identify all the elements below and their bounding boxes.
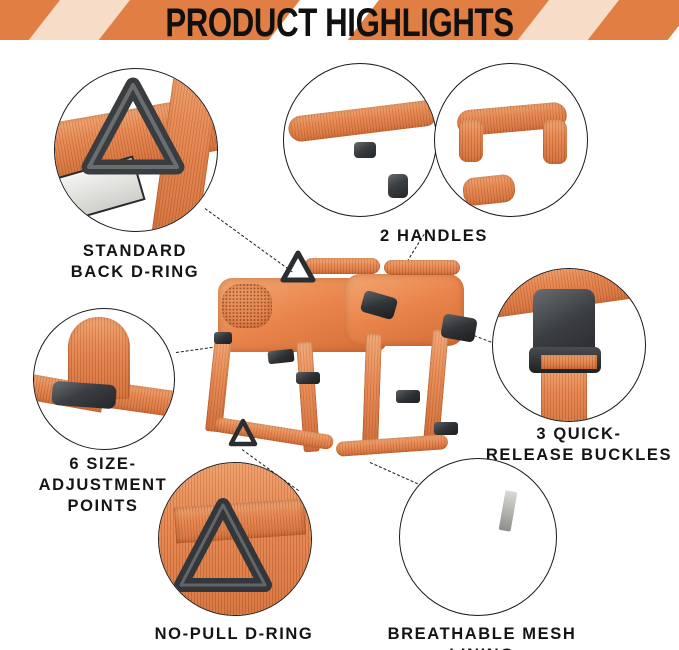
buckle-webbing-bottom [541,365,587,422]
strap-slider-icon [51,381,117,409]
harness-belly-strap-mid [362,334,382,450]
handle-post-left [459,120,483,162]
inset-photo-buckle [493,269,645,421]
inset-quick-release-buckle [492,268,646,422]
inset-mesh-lining [399,458,557,616]
inset-photo-size-adjustment [34,309,174,449]
inset-no-pull-d-ring [158,462,312,616]
inset-photo-handle-left [284,64,436,216]
handle-post-right [543,120,567,164]
inset-size-adjustment [33,308,175,450]
buckle-strap-through [541,355,597,369]
harness-slider-bottom-right [434,422,458,435]
harness-back-d-ring [280,250,316,284]
product-highlights-infographic: PRODUCT HIGHLIGHTS [0,0,679,650]
caption-standard-back-d-ring: STANDARD BACK D-RING [45,241,225,283]
harness-handle-rear [384,260,460,275]
page-title: PRODUCT HIGHLIGHTS [75,0,605,46]
harness-product-image [196,250,476,475]
harness-side-mesh-patch [222,284,272,328]
caption-2-handles: 2 HANDLES [334,226,534,247]
inset-handle-right [434,63,588,217]
inset-standard-back-d-ring [54,68,218,232]
harness-slider-left [267,349,294,365]
harness-slider-neck [214,332,232,344]
harness-slider-right [396,390,420,403]
harness-slider-mid [296,372,320,384]
inset-photo-no-pull-d-ring [159,463,311,615]
header-banner: PRODUCT HIGHLIGHTS [0,0,679,52]
inset-photo-mesh-lining [400,459,556,615]
harness-front-d-ring [228,418,258,448]
caption-breathable-mesh-lining: BREATHABLE MESH LINING [352,624,612,650]
d-ring-icon [77,75,189,187]
inset-photo-back-d-ring [55,69,217,231]
harness-bottom-strap-rear [336,434,449,457]
handle-clip [388,174,408,198]
handle-buckle [354,142,376,158]
no-pull-d-ring-icon [171,497,275,601]
inset-photo-handle-right [435,64,587,216]
mesh-lining-surface [399,458,557,616]
caption-no-pull-d-ring: NO-PULL D-RING [144,624,324,645]
inset-handle-left [283,63,437,217]
